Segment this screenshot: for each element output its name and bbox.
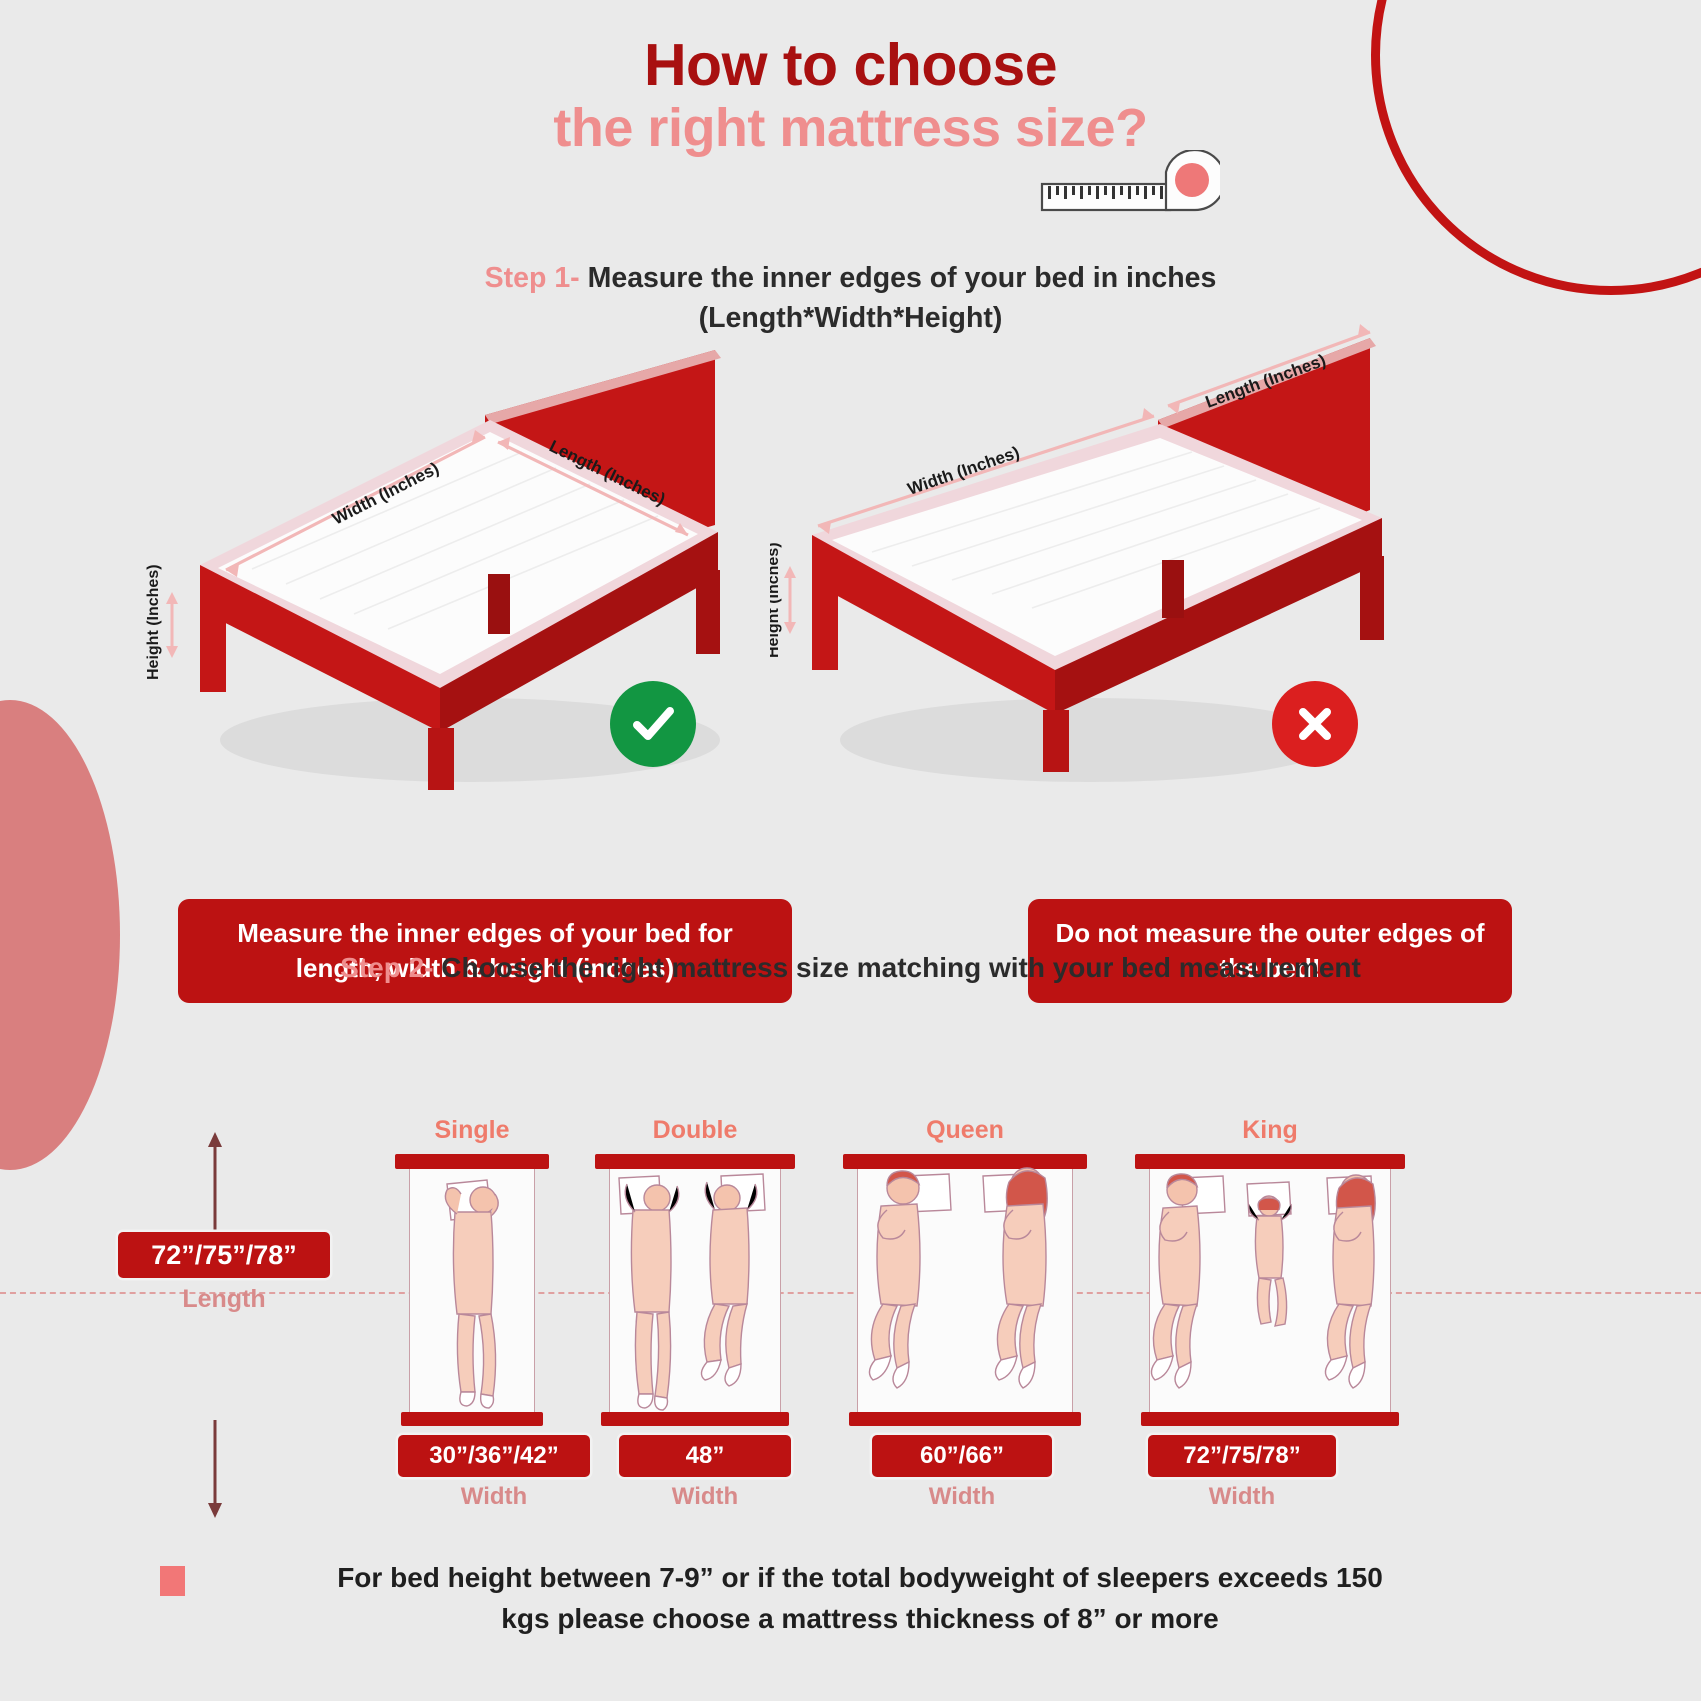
title-line-1: How to choose bbox=[0, 34, 1701, 98]
width-chip-queen: 60”/66” bbox=[872, 1435, 1052, 1477]
step-1-text: Measure the inner edges of your bed in i… bbox=[588, 262, 1217, 294]
measuring-tape-icon bbox=[1040, 150, 1220, 225]
bed-right-height-label: Height (Inches) bbox=[770, 542, 782, 658]
width-caption-queen: Width bbox=[872, 1483, 1052, 1511]
size-name-queen: Queen bbox=[843, 1116, 1087, 1145]
left-semicircle-decoration bbox=[0, 700, 120, 1170]
width-caption-king: Width bbox=[1148, 1483, 1336, 1511]
size-name-double: Double bbox=[595, 1116, 795, 1145]
step-2-text: Choose the right mattress size matching … bbox=[441, 952, 1361, 983]
bed-left-height-label: Height (Inches) bbox=[145, 564, 162, 680]
mattress-size-panels: Single bbox=[395, 1124, 1405, 1454]
footer-note-line-2: kgs please choose a mattress thickness o… bbox=[150, 1599, 1570, 1640]
sleeper-illustration-king bbox=[1135, 1154, 1405, 1426]
width-chip-king: 72”/75/78” bbox=[1148, 1435, 1336, 1477]
size-panel-single[interactable]: Single bbox=[395, 1154, 549, 1426]
step-2-label: Step 2- bbox=[340, 952, 433, 983]
width-chip-single: 30”/36”/42” bbox=[398, 1435, 590, 1477]
check-circle-icon bbox=[610, 681, 696, 767]
size-name-king: King bbox=[1135, 1116, 1405, 1145]
length-caption: Length bbox=[118, 1285, 330, 1314]
title-line-2: the right mattress size? bbox=[0, 98, 1701, 158]
sleeper-illustration-double bbox=[595, 1154, 795, 1426]
width-caption-double: Width bbox=[619, 1483, 791, 1511]
width-chip-double: 48” bbox=[619, 1435, 791, 1477]
size-panel-double[interactable]: Double bbox=[595, 1154, 795, 1426]
length-arrow-icon bbox=[205, 1130, 225, 1520]
footer-note-line-1: For bed height between 7-9” or if the to… bbox=[337, 1562, 1383, 1593]
cross-circle-icon bbox=[1272, 681, 1358, 767]
size-name-single: Single bbox=[395, 1116, 549, 1145]
length-value-chip: 72”/75”/78” bbox=[118, 1232, 330, 1278]
step-1-label: Step 1- bbox=[485, 262, 580, 294]
page-title: How to choose the right mattress size? bbox=[0, 34, 1701, 158]
size-panel-queen[interactable]: Queen bbox=[843, 1154, 1087, 1426]
sleeper-illustration-queen bbox=[843, 1154, 1087, 1426]
footer-note: For bed height between 7-9” or if the to… bbox=[150, 1558, 1570, 1640]
infographic-canvas: How to choose the right mattress size? S… bbox=[0, 0, 1701, 1701]
sleeper-illustration-single bbox=[395, 1154, 549, 1426]
width-caption-single: Width bbox=[398, 1483, 590, 1511]
step-2-heading: Step 2- Choose the right mattress size m… bbox=[0, 948, 1701, 988]
size-panel-king[interactable]: King bbox=[1135, 1154, 1405, 1426]
